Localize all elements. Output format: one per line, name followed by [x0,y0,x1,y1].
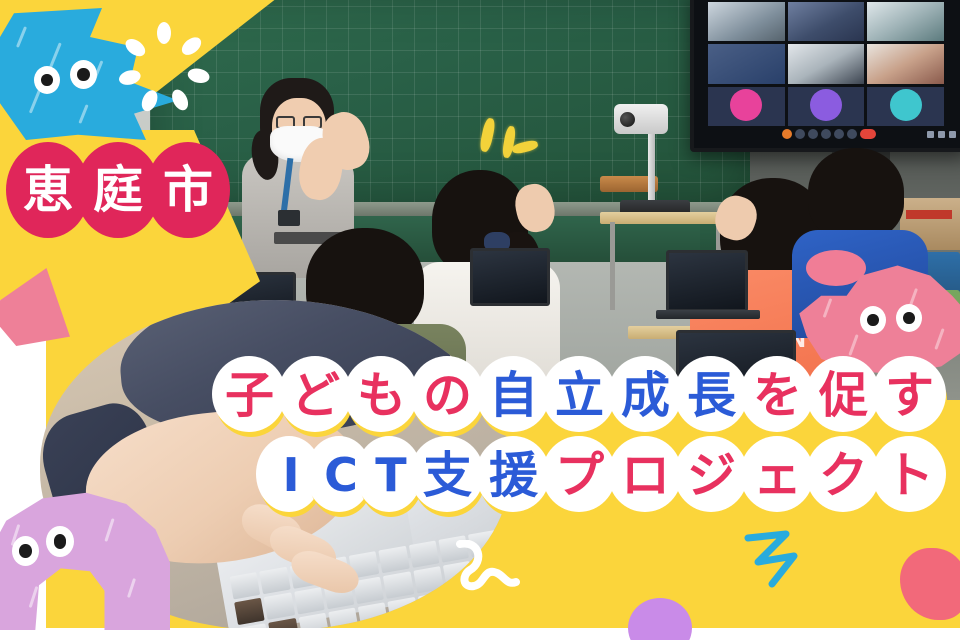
video-call-status-icons [927,131,956,138]
title-char-glyph: 長 [687,371,735,420]
title-line-1: 子どもの自立成長を促す [0,352,960,438]
title-char-glyph: を [753,371,801,420]
title-char: も [344,352,418,438]
title-char: 自 [476,352,550,438]
pink-blob-shape [806,250,866,286]
id-badge [278,210,300,226]
title-char-glyph: T [375,452,404,498]
more-icon [847,129,857,139]
title-char-glyph: 子 [225,371,273,420]
title-char-glyph: C [324,452,356,498]
title-char: 立 [542,352,616,438]
desk-leg [610,222,615,310]
poster-canvas: JAPAN [0,0,960,640]
participants-icon [821,129,831,139]
video-tile [708,2,785,41]
camera-lens-icon [620,112,635,127]
title-char: す [872,352,946,438]
title-char: ロ [608,432,682,518]
avatar [730,89,762,121]
title-char-glyph: 支 [423,451,471,500]
title-char-glyph: の [423,371,471,420]
laptop-base [656,310,760,319]
title-char-glyph: す [885,371,933,420]
student-head [808,148,904,240]
title-char-glyph: 援 [489,451,537,500]
video-tile [788,2,865,41]
blue-zigzag-icon [742,528,820,588]
title-char: の [410,352,484,438]
title-char: 長 [674,352,748,438]
mascot-eye [70,60,97,89]
title-char: ェ [740,432,814,518]
video-call-toolbar [694,126,960,142]
user-icon [938,131,945,138]
title-char-glyph: 自 [489,371,537,420]
title-char-glyph: ど [291,371,339,420]
mascot-eye [46,526,74,557]
video-tile [708,44,785,83]
title-line-2: ICT支援プロジェクト [0,432,960,518]
title-char: プ [542,432,616,518]
mascot-eye [896,304,922,332]
title-char-glyph: ク [819,451,867,500]
hangup-icon [860,129,876,139]
city-badge-char: 市 [146,142,230,238]
title-char-glyph: ジ [687,451,735,500]
title-char-glyph: ェ [753,451,801,500]
video-call-grid [708,2,944,126]
camera-icon [795,129,805,139]
avatar [890,89,922,121]
title-char-glyph: 成 [621,371,669,420]
mascot-eye [860,306,886,334]
mascot-eye [34,66,60,94]
laptop-screen [666,250,748,312]
classroom-display [690,0,960,152]
video-tile-avatar [708,87,785,126]
video-tile [788,44,865,83]
video-tile [867,2,944,41]
laptop-screen [470,248,550,306]
title-char: 成 [608,352,682,438]
title-char-glyph: ロ [621,451,669,500]
title-char-glyph: 立 [555,371,603,420]
title-char: ど [278,352,352,438]
chat-icon [834,129,844,139]
white-radial-sparkle-icon [118,18,210,110]
avatar [810,89,842,121]
title-char: ジ [674,432,748,518]
video-tile-avatar [788,87,865,126]
title-char: 子 [212,352,286,438]
white-squiggle-icon [450,540,522,600]
title-char-glyph: 促 [819,371,867,420]
layout-icon [949,131,956,138]
title-char: ト [872,432,946,518]
title-char-glyph: プ [555,451,603,500]
title-char-glyph: も [357,371,405,420]
title-char: 支 [410,432,484,518]
microphone-icon [782,129,792,139]
title-char-glyph: I [282,452,297,498]
title-char: 促 [806,352,880,438]
title-char: ク [806,432,880,518]
title-char: 援 [476,432,550,518]
mascot-eye [12,536,39,566]
settings-icon [927,131,934,138]
video-tile [867,44,944,83]
title-char: を [740,352,814,438]
share-screen-icon [808,129,818,139]
poster-title: 子どもの自立成長を促す ICT支援プロジェクト [0,352,960,518]
video-tile-avatar [867,87,944,126]
city-badge: 恵 庭 市 [6,142,216,238]
title-char-glyph: ト [885,451,933,500]
